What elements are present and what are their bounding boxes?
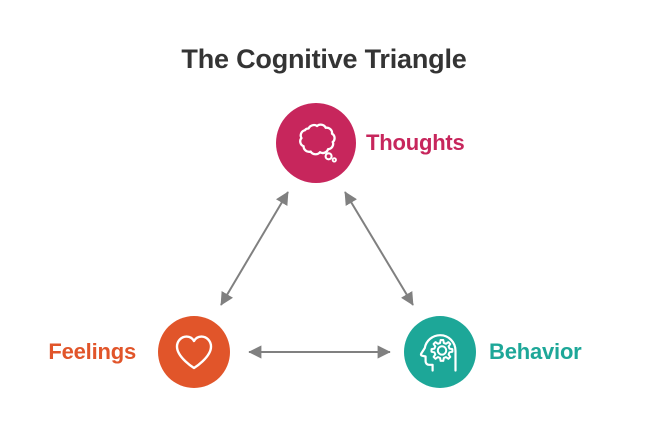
connector-feelings-thoughts bbox=[221, 192, 288, 305]
connector-thoughts-behavior bbox=[345, 192, 413, 305]
thought-bubble-icon bbox=[288, 115, 344, 171]
node-thoughts[interactable] bbox=[276, 103, 356, 183]
node-feelings[interactable] bbox=[158, 316, 230, 388]
node-behavior[interactable] bbox=[404, 316, 476, 388]
node-label-thoughts: Thoughts bbox=[366, 132, 465, 154]
connector-layer bbox=[0, 0, 648, 440]
head-gear-icon bbox=[415, 327, 465, 377]
node-label-feelings: Feelings bbox=[48, 341, 136, 363]
heart-icon bbox=[170, 328, 218, 376]
cognitive-triangle-diagram: The Cognitive Triangle bbox=[0, 0, 648, 440]
node-label-behavior: Behavior bbox=[489, 341, 582, 363]
